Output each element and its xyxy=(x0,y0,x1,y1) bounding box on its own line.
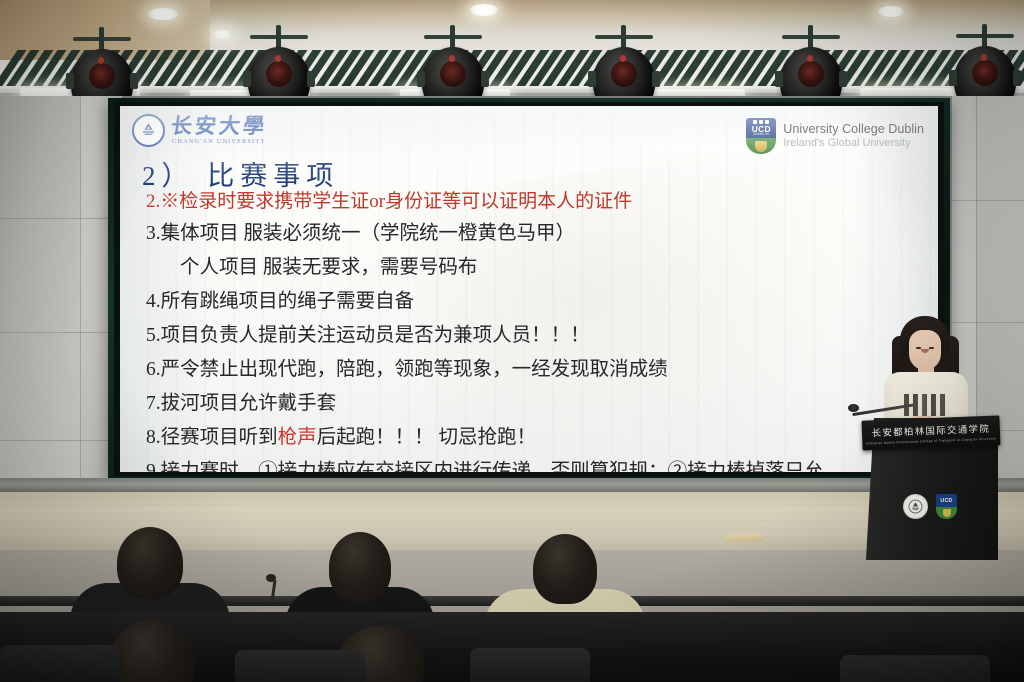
spotlight-indicator xyxy=(98,57,104,64)
spotlight-indicator xyxy=(807,55,813,62)
slide-line-2: 3.集体项目 服装必须统一（学院统一橙黄色马甲） xyxy=(146,224,936,244)
presenter-eye-right xyxy=(929,347,934,349)
lecture-hall-room: 长安大學 CHANG'AN UNIVERSITY UCD DUBLIN xyxy=(0,0,1024,682)
wall-seam xyxy=(80,96,81,536)
projection-screen: 长安大學 CHANG'AN UNIVERSITY UCD DUBLIN xyxy=(120,106,938,472)
spotlight-indicator xyxy=(981,54,987,61)
auditorium-seat-4 xyxy=(840,655,990,682)
ucd-emblem-abbr: UCD xyxy=(940,498,952,504)
spotlight-knob-left xyxy=(417,71,425,87)
wall-seam xyxy=(0,440,122,441)
lectern-sign: 长安都柏林国际交通学院 Chang'an-Dublin Internationa… xyxy=(861,415,1000,450)
spotlight-yoke xyxy=(808,25,813,49)
spotlight-yoke xyxy=(982,24,987,48)
wall-seam xyxy=(0,332,122,333)
spotlight-knob-left xyxy=(775,71,783,87)
spotlight-knob-right xyxy=(839,71,847,87)
spotlight-yoke xyxy=(276,25,281,49)
wall-seam xyxy=(0,218,122,219)
audience-microphone-head-icon xyxy=(266,574,276,582)
spotlight-knob-right xyxy=(307,71,315,87)
screen-glare xyxy=(120,106,938,186)
wall-seam xyxy=(952,200,1024,201)
auditorium-seat-1 xyxy=(0,645,120,682)
spotlight-lens xyxy=(89,63,115,89)
spotlight-knob-right xyxy=(481,71,489,87)
audience-member-3-head xyxy=(533,534,597,604)
spotlight-knob-left xyxy=(243,71,251,87)
spotlight-indicator xyxy=(620,55,626,62)
spotlight-knob-left xyxy=(66,73,74,89)
ucd-emblem-bottom xyxy=(936,507,957,519)
lectern-emblems: UCD xyxy=(903,494,957,519)
audience-member-1-head xyxy=(117,527,183,599)
changan-university-emblem-icon xyxy=(903,494,928,519)
slide-line-8-pre: 8.径赛项目听到 xyxy=(146,427,278,448)
downlight-icon xyxy=(212,30,232,39)
slide-line-8-highlight: 枪声 xyxy=(278,427,317,448)
spotlight-knob-left xyxy=(949,70,957,86)
slide-line-9: 9.接力赛时，①接力棒应在交接区内进行传递，否则算犯规；②接力棒掉落只允 xyxy=(146,462,936,472)
spotlight-lens xyxy=(798,61,824,87)
auditorium-seat-2 xyxy=(235,650,365,682)
spotlight-indicator xyxy=(449,55,455,62)
auditorium-seat-3 xyxy=(470,648,590,682)
spotlight-knob-right xyxy=(652,71,660,87)
spotlight-knob-left xyxy=(588,71,596,87)
floor-object xyxy=(725,533,763,542)
spotlight-lens xyxy=(972,60,998,86)
spotlight-lens xyxy=(440,61,466,87)
slide-line-3: 个人项目 服装无要求，需要号码布 xyxy=(146,258,936,278)
spotlight-knob-right xyxy=(1013,70,1021,86)
slide-body-lines: 2.※检录时要求携带学生证or身份证等可以证明本人的证件3.集体项目 服装必须统… xyxy=(146,192,936,472)
spotlight-yoke xyxy=(450,25,455,49)
spotlight-yoke xyxy=(99,27,104,51)
ucd-emblem-top: UCD xyxy=(936,494,957,507)
slide-line-8: 8.径赛项目听到枪声后起跑！！！ 切忌抢跑！ xyxy=(146,428,936,448)
audience-member-2-head xyxy=(329,532,391,602)
downlight-icon xyxy=(470,4,498,16)
spotlight-yoke xyxy=(621,25,626,49)
ucd-shield-emblem-icon: UCD xyxy=(936,494,957,519)
microphone-capsule-icon xyxy=(848,404,859,412)
screenshot-root: 长安大學 CHANG'AN UNIVERSITY UCD DUBLIN xyxy=(0,0,1024,682)
slide-line-5: 5.项目负责人提前关注运动员是否为兼项人员！！！ xyxy=(146,326,936,346)
spotlight-knob-right xyxy=(130,73,138,89)
slide-line-8-post: 后起跑！！！ 切忌抢跑！ xyxy=(317,427,536,448)
slide-line-4: 4.所有跳绳项目的绳子需要自备 xyxy=(146,292,936,312)
slide-line-6: 6.严令禁止出现代跑，陪跑，领跑等现象，一经发现取消成绩 xyxy=(146,360,936,380)
slide-line-7: 7.拔河项目允许戴手套 xyxy=(146,394,936,414)
spotlight-lens xyxy=(611,61,637,87)
downlight-icon xyxy=(148,8,178,20)
downlight-icon xyxy=(878,6,904,17)
slide-line-1: 2.※检录时要求携带学生证or身份证等可以证明本人的证件 xyxy=(146,192,936,211)
